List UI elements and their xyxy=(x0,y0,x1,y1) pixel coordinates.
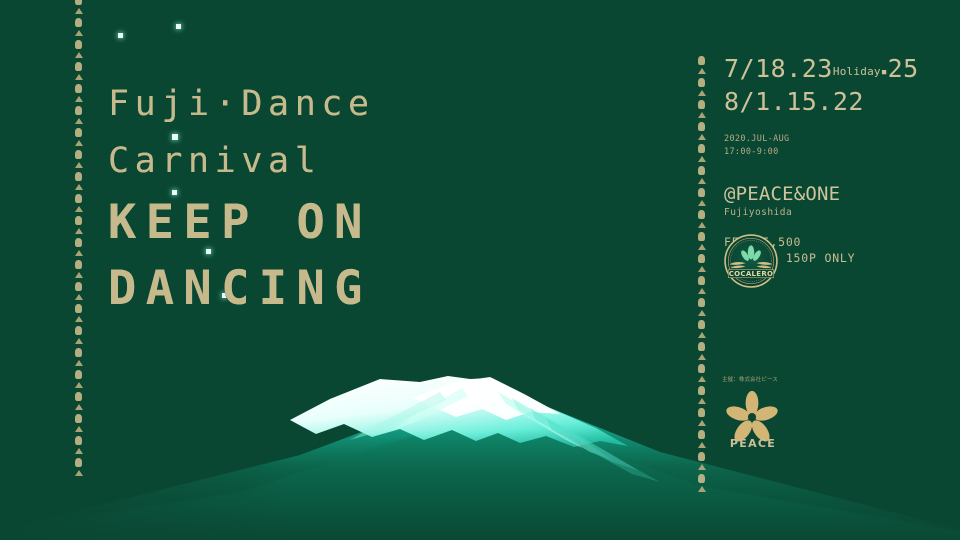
title-line-carnival: Carnival xyxy=(108,133,668,190)
rail-triangle-icon xyxy=(698,134,706,140)
rail-drop-icon xyxy=(75,348,82,357)
rail-drop-icon xyxy=(698,408,705,417)
rail-drop-icon xyxy=(75,62,82,71)
event-dates-line-2: 8/1.15.22 xyxy=(724,87,952,117)
rail-triangle-icon xyxy=(698,244,706,250)
rail-drop-icon xyxy=(75,392,82,401)
rail-drop-icon xyxy=(75,106,82,115)
rail-triangle-icon xyxy=(75,184,83,190)
rail-triangle-icon xyxy=(698,222,706,228)
rail-triangle-icon xyxy=(698,464,706,470)
rail-drop-icon xyxy=(698,364,705,373)
rail-drop-icon xyxy=(75,172,82,181)
rail-triangle-icon xyxy=(698,90,706,96)
rail-triangle-icon xyxy=(698,288,706,294)
rail-drop-icon xyxy=(75,370,82,379)
rail-drop-icon xyxy=(698,474,705,483)
rail-triangle-icon xyxy=(75,294,83,300)
rail-drop-icon xyxy=(698,210,705,219)
cocalero-logo: COCALERO xyxy=(724,234,778,288)
flower-center xyxy=(748,413,756,421)
star-dot-icon xyxy=(176,24,181,29)
rail-triangle-icon xyxy=(75,426,83,432)
rail-drop-icon xyxy=(75,260,82,269)
rail-drop-icon xyxy=(698,254,705,263)
rail-triangle-icon xyxy=(75,272,83,278)
rail-drop-icon xyxy=(698,342,705,351)
rail-triangle-icon xyxy=(75,140,83,146)
rail-drop-icon xyxy=(75,238,82,247)
rail-triangle-icon xyxy=(75,52,83,58)
rail-triangle-icon xyxy=(75,250,83,256)
rail-triangle-icon xyxy=(75,96,83,102)
rail-drop-icon xyxy=(698,100,705,109)
peace-wordmark: PEACE xyxy=(722,437,784,450)
rail-triangle-icon xyxy=(75,316,83,322)
rail-drop-icon xyxy=(698,166,705,175)
rail-drop-icon xyxy=(75,304,82,313)
rail-drop-icon xyxy=(698,430,705,439)
rail-triangle-icon xyxy=(75,162,83,168)
cocalero-wordmark: COCALERO xyxy=(729,269,773,278)
bottom-fade xyxy=(0,430,960,540)
dotted-rail-left xyxy=(74,0,83,540)
rail-triangle-icon xyxy=(698,200,706,206)
rail-triangle-icon xyxy=(75,338,83,344)
rail-drop-icon xyxy=(698,232,705,241)
rail-drop-icon xyxy=(75,150,82,159)
rail-drop-icon xyxy=(75,414,82,423)
event-period: 2020.JUL-AUG xyxy=(724,133,952,146)
rail-drop-icon xyxy=(698,56,705,65)
rail-drop-icon xyxy=(698,298,705,307)
rail-drop-icon xyxy=(698,78,705,87)
rail-triangle-icon xyxy=(75,228,83,234)
event-period-block: 2020.JUL-AUG 17:00-9:00 xyxy=(724,133,952,159)
organizer-note: 主催：株式会社ピース xyxy=(722,375,778,383)
dotted-rail-right xyxy=(697,56,706,540)
date-holiday-label: Holiday▪ xyxy=(833,65,888,78)
rail-triangle-icon xyxy=(698,442,706,448)
rail-drop-icon xyxy=(75,18,82,27)
rail-triangle-icon xyxy=(75,206,83,212)
rail-drop-icon xyxy=(75,326,82,335)
title-line-fuji-dance: Fuji·Dance xyxy=(108,76,668,133)
rail-drop-icon xyxy=(75,0,82,5)
title-line-dancing: DANCING xyxy=(108,256,668,322)
rail-drop-icon xyxy=(698,188,705,197)
star-dot-icon xyxy=(118,33,123,38)
title-line-keep-on: KEEP ON xyxy=(108,190,668,256)
rail-drop-icon xyxy=(75,216,82,225)
rail-triangle-icon xyxy=(75,404,83,410)
fuji-snow-streaks xyxy=(350,388,660,482)
rail-triangle-icon xyxy=(75,448,83,454)
poster-title-block: Fuji·Dance Carnival KEEP ON DANCING xyxy=(108,76,668,322)
event-dates-line-1: 7/18.23Holiday▪25 xyxy=(724,54,952,87)
rail-drop-icon xyxy=(698,386,705,395)
venue-city: Fujiyoshida xyxy=(724,205,952,220)
date-july-part-b: 25 xyxy=(888,54,919,83)
rail-drop-icon xyxy=(698,452,705,461)
rail-triangle-icon xyxy=(75,382,83,388)
rail-triangle-icon xyxy=(698,332,706,338)
rail-drop-icon xyxy=(75,458,82,467)
fuji-summit-highlight xyxy=(412,377,560,420)
rail-triangle-icon xyxy=(75,30,83,36)
rail-drop-icon xyxy=(75,128,82,137)
rail-triangle-icon xyxy=(698,376,706,382)
rail-triangle-icon xyxy=(698,354,706,360)
rail-drop-icon xyxy=(698,320,705,329)
rail-triangle-icon xyxy=(75,360,83,366)
rail-triangle-icon xyxy=(75,118,83,124)
venue-name: @PEACE&ONE xyxy=(724,183,952,205)
rail-triangle-icon xyxy=(75,74,83,80)
rail-drop-icon xyxy=(698,276,705,285)
rail-triangle-icon xyxy=(698,420,706,426)
date-july-part-a: 7/18.23 xyxy=(724,54,833,83)
rail-drop-icon xyxy=(75,194,82,203)
rail-drop-icon xyxy=(75,40,82,49)
rail-triangle-icon xyxy=(698,112,706,118)
rail-drop-icon xyxy=(698,122,705,131)
rail-triangle-icon xyxy=(698,68,706,74)
rail-triangle-icon xyxy=(698,178,706,184)
rail-triangle-icon xyxy=(75,8,83,14)
rail-drop-icon xyxy=(75,84,82,93)
rail-triangle-icon xyxy=(698,156,706,162)
rail-drop-icon xyxy=(75,436,82,445)
left-fade xyxy=(0,400,420,540)
rail-triangle-icon xyxy=(698,398,706,404)
event-poster: Fuji·Dance Carnival KEEP ON DANCING 7/18… xyxy=(0,0,960,540)
rail-drop-icon xyxy=(75,282,82,291)
rail-drop-icon xyxy=(698,144,705,153)
fuji-snowcap xyxy=(290,376,628,447)
rail-triangle-icon xyxy=(698,486,706,492)
rail-triangle-icon xyxy=(698,266,706,272)
fuji-slope xyxy=(0,379,960,540)
fuji-skirt xyxy=(0,396,960,540)
event-hours: 17:00-9:00 xyxy=(724,146,952,159)
rail-triangle-icon xyxy=(75,470,83,476)
rail-triangle-icon xyxy=(698,310,706,316)
